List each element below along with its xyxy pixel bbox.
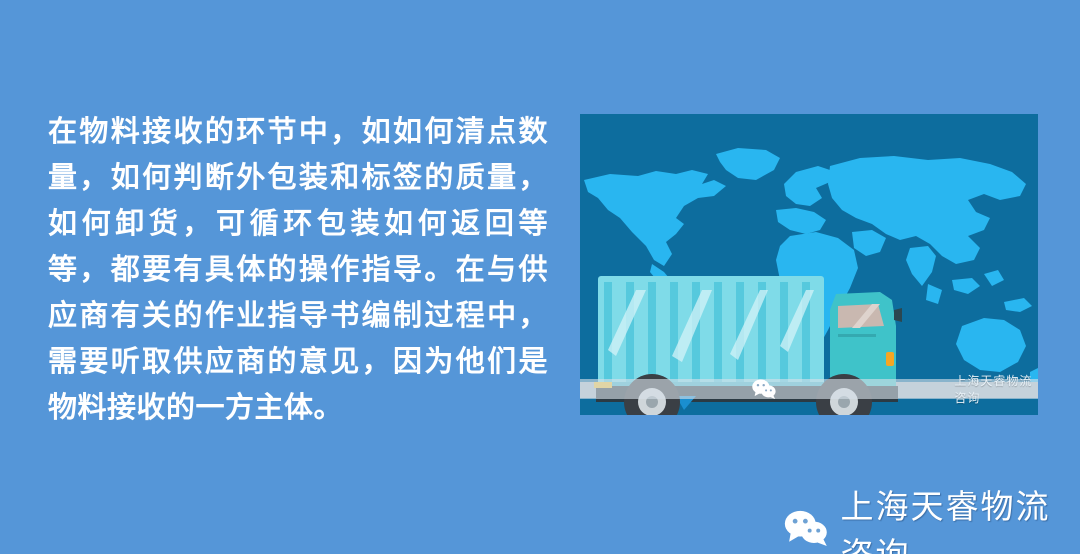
illustration-panel: 上海天睿物流咨询 bbox=[580, 114, 1038, 415]
truck-mirror bbox=[894, 308, 902, 322]
delivery-truck bbox=[594, 276, 902, 415]
slide-canvas: 在物料接收的环节中，如如何清点数量，如何判断外包装和标签的质量，如何卸货，可循环… bbox=[0, 0, 1080, 554]
truck-indicator-light bbox=[886, 352, 894, 366]
truck-door-seam bbox=[838, 334, 876, 337]
body-paragraph: 在物料接收的环节中，如如何清点数量，如何判断外包装和标签的质量，如何卸货，可循环… bbox=[48, 108, 548, 430]
brand-logo[interactable]: 上海天睿物流咨询 bbox=[784, 480, 1080, 554]
world-map-truck-illustration bbox=[580, 114, 1038, 415]
wechat-icon bbox=[784, 507, 828, 549]
truck-side-marker bbox=[594, 382, 612, 388]
brand-logo-text: 上海天睿物流咨询 bbox=[840, 480, 1080, 554]
